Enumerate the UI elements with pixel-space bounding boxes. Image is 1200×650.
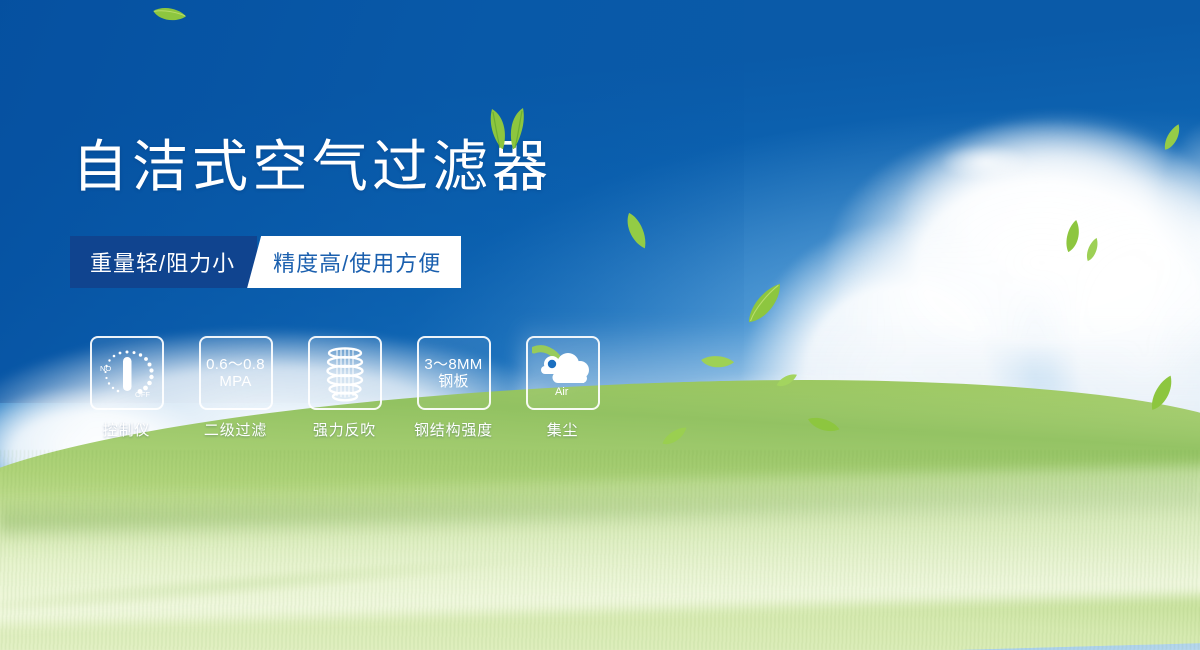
product-hero-banner: 自洁式空气过滤器 重量轻/阻力小 精度高/使用方便: [0, 0, 1200, 650]
feature-item-control-meter[interactable]: NO OFF 控制仪: [72, 336, 181, 440]
feature-item-steel-strength[interactable]: 3～8MM 钢板 钢结构强度: [399, 336, 508, 440]
gauge-off-label: OFF: [135, 390, 150, 399]
feature-box: [308, 336, 382, 410]
filter-cartridge-icon: [319, 344, 371, 402]
subtitle-bar: 重量轻/阻力小 精度高/使用方便: [70, 236, 461, 288]
air-cloud-icon: Air: [532, 344, 594, 402]
subtitle-segment-left: 重量轻/阻力小: [70, 236, 257, 288]
cloud-wisp-right: [940, 140, 1030, 180]
feature-box: Air: [526, 336, 600, 410]
gauge-on-label: NO: [100, 364, 111, 373]
gauge-dial-icon: NO OFF: [95, 344, 159, 402]
feature-box: 3～8MM 钢板: [417, 336, 491, 410]
sprout-leaves-icon: [472, 104, 544, 155]
steel-thickness: 3～8MM: [424, 356, 482, 373]
grass-texture: [0, 450, 1200, 650]
title-block: 自洁式空气过滤器: [72, 140, 552, 196]
steel-plate-text-icon: 3～8MM 钢板: [424, 356, 482, 391]
feature-label: 钢结构强度: [414, 419, 493, 440]
feature-label: 控制仪: [103, 419, 150, 440]
feature-box: 0.6～0.8 MPA: [199, 336, 273, 410]
feature-label: 集尘: [547, 419, 579, 440]
pressure-unit: MPA: [206, 373, 265, 390]
pressure-value: 0.6～0.8: [206, 356, 265, 373]
feature-box: NO OFF: [90, 336, 164, 410]
feature-label: 强力反吹: [313, 419, 376, 440]
steel-material: 钢板: [424, 373, 482, 390]
feature-icon-row: NO OFF 控制仪 0.6～0.8 MPA 二级过滤: [72, 336, 617, 440]
feature-item-dust-collection[interactable]: Air 集尘: [508, 336, 617, 440]
pressure-text-icon: 0.6～0.8 MPA: [206, 356, 265, 391]
air-label: Air: [555, 386, 569, 398]
feature-label: 二级过滤: [204, 419, 267, 440]
feature-item-reverse-blow[interactable]: 强力反吹: [290, 336, 399, 440]
feature-item-secondary-filtration[interactable]: 0.6～0.8 MPA 二级过滤: [181, 336, 290, 440]
subtitle-segment-right: 精度高/使用方便: [247, 236, 461, 288]
